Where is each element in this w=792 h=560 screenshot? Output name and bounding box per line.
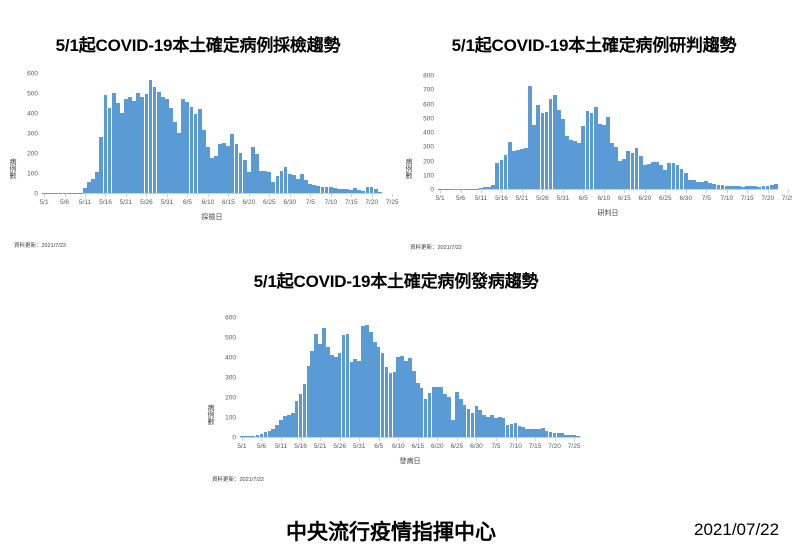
x-tick-mark xyxy=(481,190,482,193)
chart-panel-sampling: 5/1起COVID-19本土確定病例採檢趨勢 病例數 0100200300400… xyxy=(0,36,396,256)
x-tick-label: 5/31 xyxy=(161,199,174,206)
x-tick-label: 6/25 xyxy=(451,443,464,450)
x-tick-mark xyxy=(535,438,536,441)
x-tick-label: 6/15 xyxy=(222,199,235,206)
y-tick-label: 200 xyxy=(12,151,38,158)
chart-area-judgement: 病例數 0100200300400500600700800 5/15/65/11… xyxy=(396,68,792,248)
x-tick-mark xyxy=(269,194,270,197)
y-tick-label: 300 xyxy=(408,144,434,151)
x-tick-label: 5/31 xyxy=(353,443,366,450)
bar-series-onset xyxy=(240,318,580,437)
x-tick-label: 7/15 xyxy=(345,199,358,206)
x-tick-label: 5/21 xyxy=(516,195,529,202)
x-tick-label: 5/31 xyxy=(557,195,570,202)
x-tick-mark xyxy=(747,190,748,193)
note-sampling: 資料更新：2021/7/22 xyxy=(14,241,66,249)
x-tick-label: 7/20 xyxy=(548,443,561,450)
plot-area-onset xyxy=(240,318,580,438)
x-tick-label: 5/11 xyxy=(79,199,91,206)
x-tick-mark xyxy=(242,438,243,441)
x-tick-label: 7/20 xyxy=(365,199,378,206)
x-tick-mark xyxy=(563,190,564,193)
x-tick-label: 5/6 xyxy=(257,443,266,450)
x-tick-label: 5/1 xyxy=(436,195,445,202)
x-tick-mark xyxy=(44,194,45,197)
x-tick-mark xyxy=(686,190,687,193)
x-tick-mark xyxy=(281,438,282,441)
x-tick-label: 5/16 xyxy=(99,199,112,206)
y-tick-label: 500 xyxy=(12,91,38,98)
footer-organization: 中央流行疫情指揮中心 xyxy=(286,516,496,546)
x-tick-mark xyxy=(727,190,728,193)
x-tick-label: 7/10 xyxy=(324,199,337,206)
bar-series-judgement xyxy=(438,76,778,189)
x-tick-mark xyxy=(457,438,458,441)
x-tick-label: 7/5 xyxy=(702,195,711,202)
x-tick-label: 7/25 xyxy=(782,195,792,202)
x-tick-mark xyxy=(85,194,86,197)
plot-area-judgement xyxy=(438,76,778,190)
bar xyxy=(576,436,580,437)
x-tick-label: 6/20 xyxy=(243,199,256,206)
x-tick-mark xyxy=(555,438,556,441)
x-tick-label: 5/1 xyxy=(40,199,49,206)
x-tick-mark xyxy=(351,194,352,197)
x-tick-label: 6/5 xyxy=(374,443,383,450)
y-tick-label: 0 xyxy=(408,187,434,194)
x-tick-label: 6/25 xyxy=(263,199,276,206)
y-tick-label: 600 xyxy=(210,315,236,322)
x-tick-label: 5/11 xyxy=(475,195,487,202)
x-tick-label: 6/25 xyxy=(659,195,672,202)
x-tick-label: 7/10 xyxy=(509,443,522,450)
y-tick-label: 0 xyxy=(210,435,236,442)
slide-root: 5/1起COVID-19本土確定病例採檢趨勢 病例數 0100200300400… xyxy=(0,0,792,560)
x-tick-mark xyxy=(418,438,419,441)
x-tick-label: 5/6 xyxy=(60,199,69,206)
x-tick-label: 5/21 xyxy=(120,199,133,206)
bar xyxy=(378,192,382,193)
x-tick-mark xyxy=(437,438,438,441)
x-tick-label: 7/15 xyxy=(741,195,754,202)
y-tick-label: 500 xyxy=(408,115,434,122)
x-tick-mark xyxy=(624,190,625,193)
x-tick-mark xyxy=(604,190,605,193)
x-tick-mark xyxy=(645,190,646,193)
y-tick-label: 400 xyxy=(12,111,38,118)
x-tick-label: 7/5 xyxy=(491,443,500,450)
note-judgement: 資料更新：2021/7/22 xyxy=(410,243,462,251)
y-tick-label: 200 xyxy=(210,395,236,402)
x-tick-label: 5/11 xyxy=(275,443,287,450)
x-tick-label: 5/6 xyxy=(456,195,465,202)
x-tick-label: 6/10 xyxy=(598,195,611,202)
x-tick-mark xyxy=(146,194,147,197)
x-tick-label: 5/26 xyxy=(536,195,549,202)
x-tick-mark xyxy=(768,190,769,193)
x-tick-mark xyxy=(261,438,262,441)
x-tick-mark xyxy=(331,194,332,197)
x-tick-mark xyxy=(501,190,502,193)
x-tick-mark xyxy=(522,190,523,193)
x-tick-label: 6/15 xyxy=(411,443,424,450)
x-tick-mark xyxy=(496,438,497,441)
chart-title-onset: 5/1起COVID-19本土確定病例發病趨勢 xyxy=(198,272,594,292)
x-axis-label-judgement: 研判日 xyxy=(598,208,619,218)
x-tick-label: 6/5 xyxy=(183,199,192,206)
x-axis-label-onset: 發病日 xyxy=(400,456,421,466)
x-tick-label: 6/30 xyxy=(680,195,693,202)
x-tick-label: 6/20 xyxy=(639,195,652,202)
x-tick-label: 6/5 xyxy=(579,195,588,202)
x-tick-label: 5/26 xyxy=(140,199,153,206)
x-tick-label: 6/10 xyxy=(202,199,215,206)
x-tick-mark xyxy=(788,190,789,193)
x-tick-mark xyxy=(461,190,462,193)
y-tick-label: 100 xyxy=(12,171,38,178)
x-tick-mark xyxy=(372,194,373,197)
x-tick-mark xyxy=(359,438,360,441)
x-tick-mark xyxy=(665,190,666,193)
x-tick-mark xyxy=(249,194,250,197)
x-tick-mark xyxy=(187,194,188,197)
x-tick-label: 6/10 xyxy=(392,443,405,450)
x-tick-label: 7/25 xyxy=(568,443,581,450)
x-tick-label: 7/10 xyxy=(720,195,733,202)
x-tick-label: 5/16 xyxy=(294,443,307,450)
x-tick-mark xyxy=(583,190,584,193)
x-tick-mark xyxy=(706,190,707,193)
x-tick-mark xyxy=(398,438,399,441)
chart-panel-judgement: 5/1起COVID-19本土確定病例研判趨勢 病例數 0100200300400… xyxy=(396,36,792,256)
y-tick-label: 300 xyxy=(210,375,236,382)
y-tick-label: 500 xyxy=(210,335,236,342)
x-tick-label: 5/1 xyxy=(237,443,246,450)
chart-panel-onset: 5/1起COVID-19本土確定病例發病趨勢 病例數 0100200300400… xyxy=(198,272,594,502)
x-tick-label: 7/15 xyxy=(529,443,542,450)
x-tick-mark xyxy=(392,194,393,197)
y-tick-label: 300 xyxy=(12,131,38,138)
y-tick-label: 100 xyxy=(408,172,434,179)
x-tick-mark xyxy=(516,438,517,441)
bar xyxy=(774,184,778,189)
x-tick-label: 6/15 xyxy=(618,195,631,202)
x-tick-label: 5/26 xyxy=(333,443,346,450)
x-tick-mark xyxy=(574,438,575,441)
x-tick-mark xyxy=(167,194,168,197)
x-tick-label: 7/5 xyxy=(306,199,315,206)
y-tick-label: 100 xyxy=(210,415,236,422)
y-tick-label: 200 xyxy=(408,158,434,165)
footer-date: 2021/07/22 xyxy=(694,520,779,540)
x-tick-mark xyxy=(228,194,229,197)
x-tick-mark xyxy=(310,194,311,197)
x-tick-label: 5/16 xyxy=(495,195,508,202)
x-tick-label: 6/30 xyxy=(470,443,483,450)
x-tick-mark xyxy=(476,438,477,441)
chart-title-sampling: 5/1起COVID-19本土確定病例採檢趨勢 xyxy=(0,36,396,56)
x-tick-mark xyxy=(105,194,106,197)
y-tick-label: 700 xyxy=(408,87,434,94)
chart-area-onset: 病例數 0100200300400500600 5/15/65/115/165/… xyxy=(198,308,594,493)
chart-title-judgement: 5/1起COVID-19本土確定病例研判趨勢 xyxy=(396,36,792,56)
bar-series-sampling xyxy=(42,74,382,193)
chart-area-sampling: 病例數 0100200300400500600 5/15/65/115/165/… xyxy=(0,62,396,247)
x-tick-mark xyxy=(379,438,380,441)
plot-area-sampling xyxy=(42,74,382,194)
x-tick-mark xyxy=(301,438,302,441)
x-tick-label: 6/20 xyxy=(431,443,444,450)
x-tick-label: 7/20 xyxy=(761,195,774,202)
x-tick-mark xyxy=(290,194,291,197)
y-tick-label: 0 xyxy=(12,191,38,198)
x-tick-mark xyxy=(320,438,321,441)
y-tick-label: 800 xyxy=(408,73,434,80)
x-tick-mark xyxy=(126,194,127,197)
x-tick-label: 5/21 xyxy=(314,443,327,450)
y-tick-label: 600 xyxy=(408,101,434,108)
x-axis-label-sampling: 採檢日 xyxy=(202,212,223,222)
x-tick-label: 6/30 xyxy=(284,199,297,206)
x-tick-mark xyxy=(542,190,543,193)
x-tick-mark xyxy=(340,438,341,441)
note-onset: 資料更新：2021/7/22 xyxy=(212,475,264,483)
y-tick-label: 600 xyxy=(12,71,38,78)
x-tick-mark xyxy=(208,194,209,197)
x-tick-mark xyxy=(440,190,441,193)
y-tick-label: 400 xyxy=(210,355,236,362)
y-tick-label: 400 xyxy=(408,130,434,137)
x-tick-mark xyxy=(65,194,66,197)
